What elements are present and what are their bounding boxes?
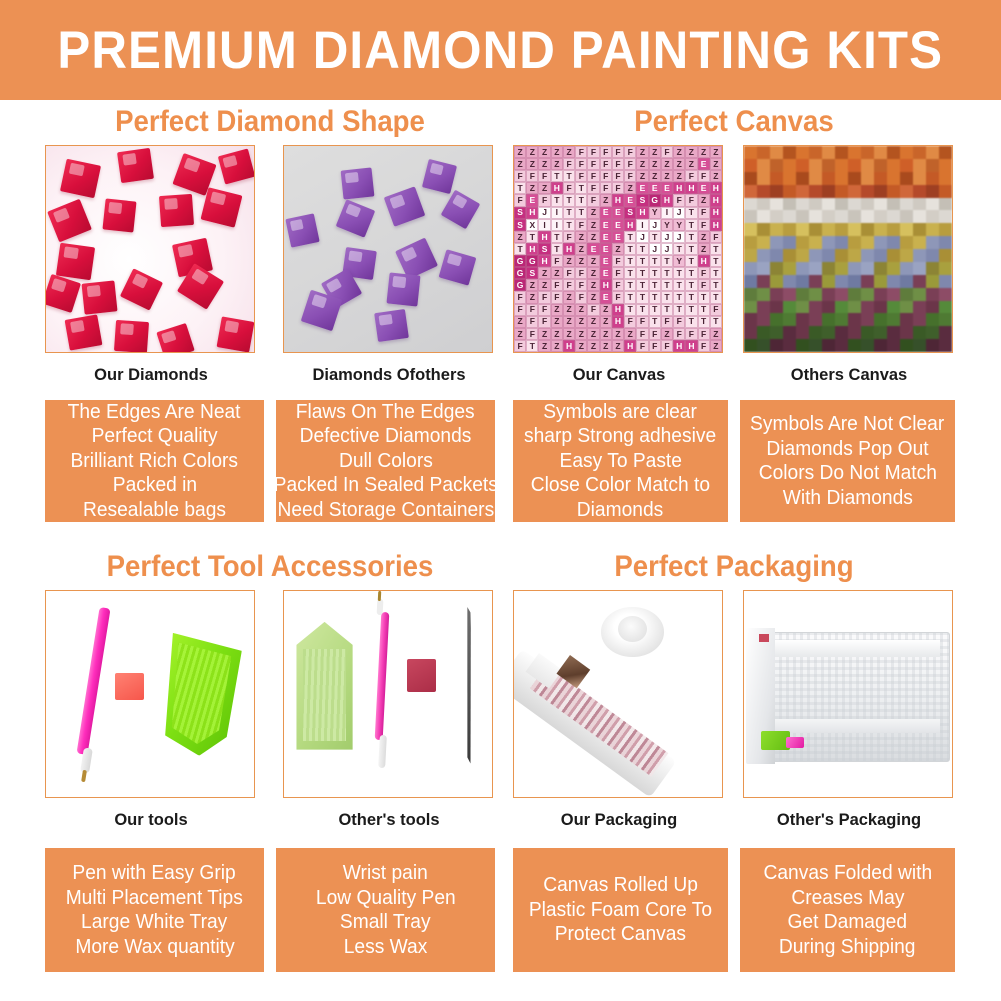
section-title-packaging: Perfect Packaging: [531, 550, 938, 584]
drawback-line: Creases May: [791, 886, 904, 911]
drawback-line: Canvas Folded with: [763, 861, 932, 886]
rolled-canvas-in-tube-photo: [513, 590, 723, 798]
benefit-line: More Wax quantity: [75, 935, 234, 960]
textbox-row-diamond-shape: The Edges Are Neat Perfect Quality Brill…: [45, 400, 495, 522]
textbox-others-packaging: Canvas Folded with Creases May Get Damag…: [740, 848, 955, 972]
benefit-line: sharp Strong adhesive: [524, 424, 716, 449]
purple-deformed-diamonds-photo: [283, 145, 493, 353]
benefit-line: Canvas Rolled Up: [543, 873, 698, 898]
clear-symbol-canvas-photo: ZZZZZFFFFFZZFZZZZZZZZFFFFFFZZZZZEZFFFTTF…: [513, 145, 723, 353]
caption-others-diamonds: Diamonds Ofothers: [283, 366, 495, 385]
textbox-row-canvas: Symbols are clear sharp Strong adhesive …: [513, 400, 955, 522]
drawback-line: Low Quality Pen: [316, 886, 456, 911]
textbox-others-diamonds: Flaws On The Edges Defective Diamonds Du…: [276, 400, 495, 522]
benefit-line: Brilliant Rich Colors: [71, 449, 239, 474]
drawback-line: Packed In Sealed Packets: [273, 473, 497, 498]
caption-our-diamonds: Our Diamonds: [45, 366, 257, 385]
drawback-line: Need Storage Containers: [277, 498, 494, 523]
benefit-line: Large White Tray: [81, 910, 227, 935]
benefit-line: Diamonds: [577, 498, 663, 523]
drawback-line: Less Wax: [344, 935, 428, 960]
textbox-row-packaging: Canvas Rolled Up Plastic Foam Core To Pr…: [513, 848, 955, 972]
drawback-line: Colors Do Not Match: [758, 461, 936, 486]
drawback-line: Small Tray: [340, 910, 431, 935]
cell-others-packaging: Other's Packaging: [743, 590, 955, 830]
infographic-page: PREMIUM DIAMOND PAINTING KITS Perfect Di…: [0, 0, 1001, 1001]
textbox-others-tools: Wrist pain Low Quality Pen Small Tray Le…: [276, 848, 495, 972]
section-title-canvas: Perfect Canvas: [531, 105, 938, 139]
drawback-line: Get Damaged: [788, 910, 908, 935]
page-title: PREMIUM DIAMOND PAINTING KITS: [58, 20, 944, 81]
drawback-line: With Diamonds: [782, 486, 912, 511]
drawback-line: During Shipping: [779, 935, 916, 960]
textbox-row-tools: Pen with Easy Grip Multi Placement Tips …: [45, 848, 495, 972]
section-title-tools: Perfect Tool Accessories: [63, 550, 477, 584]
benefit-line: Multi Placement Tips: [66, 886, 243, 911]
benefit-line: The Edges Are Neat: [68, 400, 241, 425]
cell-our-canvas: ZZZZZFFFFFZZFZZZZZZZZFFFFFFZZZZZEZFFFTTF…: [513, 145, 725, 385]
caption-others-tools: Other's tools: [283, 811, 495, 830]
benefit-line: Symbols are clear: [544, 400, 698, 425]
drawback-line: Flaws On The Edges: [296, 400, 475, 425]
drawback-line: Diamonds Pop Out: [766, 437, 928, 462]
cell-others-tools: Other's tools: [283, 590, 495, 830]
drawback-line: Defective Diamonds: [300, 424, 472, 449]
folded-canvas-bubble-mailer-photo: [743, 590, 953, 798]
section-canvas: Perfect Canvas ZZZZZFFFFFZZFZZZZZZZZFFFF…: [513, 105, 955, 365]
textbox-our-tools: Pen with Easy Grip Multi Placement Tips …: [45, 848, 264, 972]
benefit-line: Close Color Match to: [531, 473, 710, 498]
caption-others-canvas: Others Canvas: [743, 366, 955, 385]
section-packaging: Perfect Packaging Our Packaging: [513, 550, 955, 810]
benefit-line: Pen with Easy Grip: [73, 861, 236, 886]
textbox-our-diamonds: The Edges Are Neat Perfect Quality Brill…: [45, 400, 264, 522]
benefit-line: Plastic Foam Core To: [529, 898, 712, 923]
section-tools: Perfect Tool Accessories Our tools: [45, 550, 495, 810]
caption-our-canvas: Our Canvas: [513, 366, 725, 385]
textbox-our-canvas: Symbols are clear sharp Strong adhesive …: [513, 400, 728, 522]
cell-our-diamonds: Our Diamonds: [45, 145, 257, 385]
red-square-diamonds-photo: [45, 145, 255, 353]
small-green-tray-pen-tweezers-photo: [283, 590, 493, 798]
symbol-grid: ZZZZZFFFFFZZFZZZZZZZZFFFFFFZZZZZEZFFFTTF…: [514, 146, 722, 352]
mosaic-grid: [744, 146, 952, 352]
benefit-line: Perfect Quality: [92, 424, 218, 449]
benefit-line: Resealable bags: [83, 498, 226, 523]
benefit-line: Easy To Paste: [559, 449, 681, 474]
textbox-our-packaging: Canvas Rolled Up Plastic Foam Core To Pr…: [513, 848, 728, 972]
section-title-diamond-shape: Perfect Diamond Shape: [63, 105, 477, 139]
benefit-line: Protect Canvas: [555, 922, 686, 947]
drawback-line: Dull Colors: [339, 449, 433, 474]
cell-others-canvas: Others Canvas: [743, 145, 955, 385]
caption-others-packaging: Other's Packaging: [743, 811, 955, 830]
caption-our-tools: Our tools: [45, 811, 257, 830]
drawback-line: Symbols Are Not Clear: [750, 412, 944, 437]
cell-others-diamonds: Diamonds Ofothers: [283, 145, 495, 385]
pink-pen-wax-green-tray-photo: [45, 590, 255, 798]
cell-our-packaging: Our Packaging: [513, 590, 725, 830]
section-diamond-shape: Perfect Diamond Shape: [45, 105, 495, 365]
benefit-line: Packed in: [112, 473, 196, 498]
textbox-others-canvas: Symbols Are Not Clear Diamonds Pop Out C…: [740, 400, 955, 522]
caption-our-packaging: Our Packaging: [513, 811, 725, 830]
blurry-mosaic-canvas-photo: [743, 145, 953, 353]
drawback-line: Wrist pain: [343, 861, 428, 886]
cell-our-tools: Our tools: [45, 590, 257, 830]
header-band: PREMIUM DIAMOND PAINTING KITS: [0, 0, 1001, 100]
